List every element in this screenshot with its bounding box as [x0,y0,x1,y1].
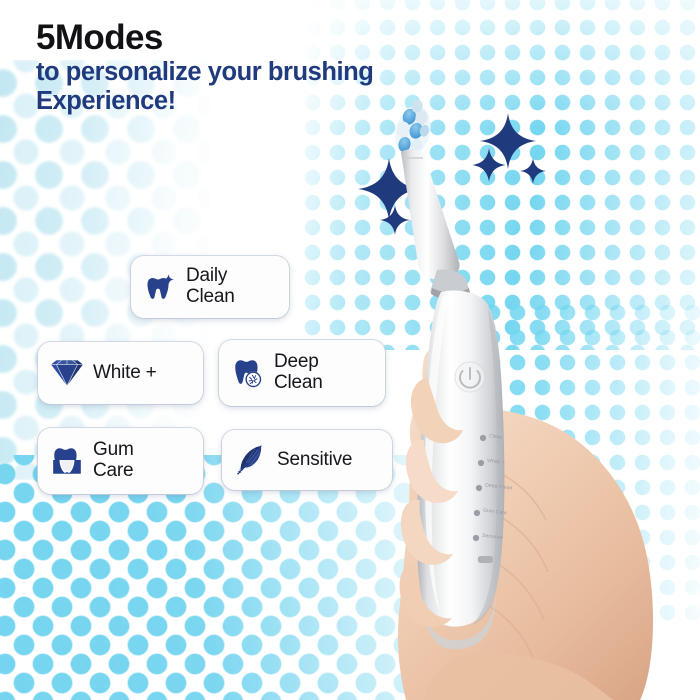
mode-badge-daily-clean[interactable]: Daily Clean [131,256,289,318]
hand-graphic [398,337,653,700]
mode-badge-label: Gum Care [93,440,134,481]
tooth-sparkle-icon [143,270,177,304]
fingers-front [400,378,463,627]
battery-indicator [478,556,493,563]
tooth-gum-icon [50,444,84,478]
device-mode-label-gum: Gum Care [483,508,507,517]
headline-subtitle-line-2: Experience! [36,87,373,116]
sparkle-small-right-icon [520,158,546,189]
halftone-dots-right [430,300,700,630]
device-mode-label-sensitive: Sensitive [482,533,504,542]
feather-icon [234,443,268,477]
product-feature-image: 5Modes to personalize your brushing Expe… [0,0,700,700]
brush-coupling [430,269,470,298]
mode-badge-label: Sensitive [277,450,352,471]
headline-title: 5Modes [36,20,373,55]
brush-bristles [390,96,436,160]
mode-badge-label: Daily Clean [186,266,235,307]
mode-badge-gum-care[interactable]: Gum Care [38,428,203,494]
power-button [455,362,485,392]
halftone-dots-bottom-right [400,560,700,700]
sparkle-small-left-icon [380,205,410,240]
mode-badge-label: White + [93,363,157,384]
mode-badge-sensitive[interactable]: Sensitive [222,430,392,490]
mode-badge-deep-clean[interactable]: Deep Clean [219,340,385,406]
mode-badge-label: Deep Clean [274,352,323,393]
sparkle-mid-right-icon [472,148,506,187]
diamond-icon [50,356,84,390]
device-mode-label-white: White + [487,458,505,466]
mode-badge-white-plus[interactable]: White + [38,342,203,404]
device-mode-label-deep: Deep Clean [485,482,513,491]
tooth-germ-icon [231,356,265,390]
headline-subtitle-line-1: to personalize your brushing [36,58,373,87]
device-mode-label-clean: Clean [489,433,503,441]
headline-block: 5Modes to personalize your brushing Expe… [36,20,373,115]
